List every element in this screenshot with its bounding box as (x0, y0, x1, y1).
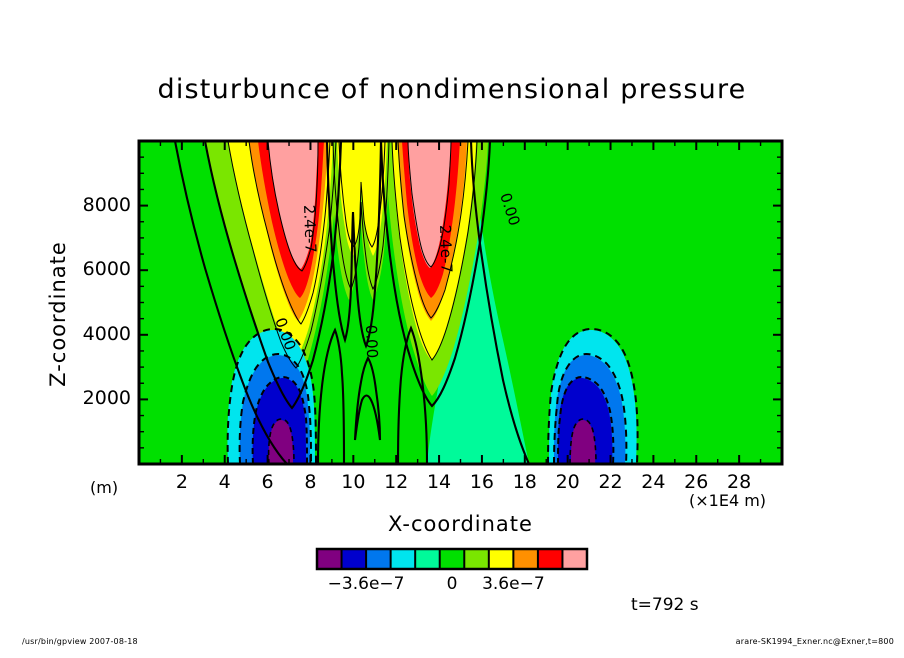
colorbar-swatch[interactable] (464, 549, 489, 569)
contour-svg: 2.4e-7 0.00 0.00 2.4e-7 0.00 (0, 0, 904, 654)
gpview-figure: disturbunce of nondimensional pressure (0, 0, 904, 654)
contour-label-2_4e-7-left: 2.4e-7 (300, 205, 320, 254)
colorbar-swatch[interactable] (538, 549, 563, 569)
time-annotation: t=792 s (631, 595, 699, 615)
colorbar-group[interactable] (317, 549, 587, 569)
x-axis-title: X-coordinate (139, 512, 782, 536)
colorbar-swatch[interactable] (391, 549, 416, 569)
y-tick-label: 8000 (35, 194, 131, 216)
contour-label-2_4e-7-right: 2.4e-7 (436, 225, 456, 274)
x-tick-label: 28 (714, 471, 764, 493)
y-axis-unit-label: (m) (90, 478, 118, 497)
colorbar-swatch[interactable] (415, 549, 440, 569)
colorbar-swatch[interactable] (513, 549, 538, 569)
contour-plot-canvas: 2.4e-7 0.00 0.00 2.4e-7 0.00 (0, 0, 904, 654)
x-axis-unit-label: (×1E4 m) (689, 491, 766, 510)
colorbar-swatch[interactable] (342, 549, 367, 569)
colorbar-swatch[interactable] (440, 549, 465, 569)
colorbar-swatch[interactable] (489, 549, 514, 569)
contour-fill-group (139, 141, 782, 464)
y-tick-label: 4000 (35, 323, 131, 345)
y-tick-label: 2000 (35, 387, 131, 409)
y-tick-label: 6000 (35, 258, 131, 280)
colorbar-swatch[interactable] (317, 549, 342, 569)
contour-label-0_00-center: 0.00 (362, 325, 381, 359)
colorbar-tick-label: 3.6e−7 (463, 574, 563, 594)
colorbar-swatches[interactable] (317, 549, 587, 569)
colorbar-swatch[interactable] (366, 549, 391, 569)
colorbar-swatch[interactable] (562, 549, 587, 569)
footer-dataset-info: arare-SK1994_Exner.nc@Exner,t=800 (736, 637, 894, 646)
footer-command-info: /usr/bin/gpview 2007-08-18 (22, 637, 138, 646)
